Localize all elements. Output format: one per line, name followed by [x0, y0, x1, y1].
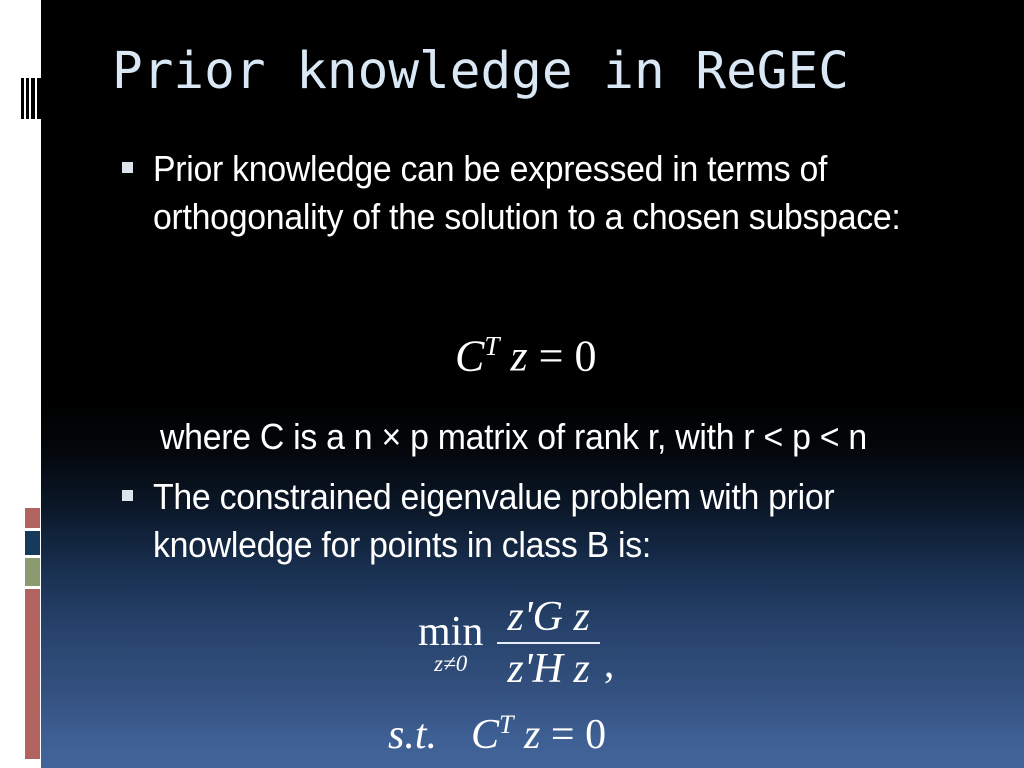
eq3-base: C	[471, 712, 499, 758]
eq1-relation: =	[539, 332, 564, 381]
eq2-operator-label: min	[418, 610, 483, 654]
bullet-item-1-text: Prior knowledge can be expressed in term…	[153, 145, 904, 241]
eq2-den-matrix: H	[533, 646, 563, 692]
equation-minimization: min z≠0 z'G z z'H z ,	[418, 592, 614, 694]
equation-subject-to: s.t.CT z = 0	[388, 700, 606, 760]
bullet-item-2: The constrained eigenvalue problem with …	[122, 473, 972, 569]
eq3-variable: z	[524, 712, 540, 758]
note-line-matrix-rank: where C is a n × p matrix of rank r, wit…	[160, 414, 950, 460]
eq1-rhs: 0	[574, 332, 596, 381]
bullet-item-2-text: The constrained eigenvalue problem with …	[153, 473, 923, 569]
square-bullet-icon	[122, 162, 133, 173]
eq2-fraction: z'G z z'H z	[497, 592, 600, 694]
eq3-relation: =	[551, 712, 575, 758]
eq2-den-var2: z	[574, 646, 590, 692]
eq2-min-operator: min z≠0	[418, 610, 483, 676]
eq2-den-var1: z'	[507, 646, 532, 692]
equation-orthogonality: CT z = 0	[455, 320, 596, 383]
eq2-denominator: z'H z	[497, 644, 600, 694]
eq3-prefix: s.t.	[388, 712, 437, 758]
eq2-trailing-comma: ,	[604, 640, 615, 688]
presentation-slide: Prior knowledge in ReGEC Prior knowledge…	[0, 0, 1024, 768]
eq3-rhs: 0	[585, 712, 606, 758]
eq2-operator-subscript: z≠0	[434, 652, 467, 676]
slide-body: Prior knowledge can be expressed in term…	[0, 0, 1024, 768]
eq2-num-var1: z'	[507, 594, 532, 640]
bullet-item-1: Prior knowledge can be expressed in term…	[122, 145, 952, 241]
eq1-base: C	[455, 332, 484, 381]
eq1-variable: z	[511, 332, 528, 381]
eq2-num-var2: z	[574, 594, 590, 640]
eq2-numerator: z'G z	[497, 592, 600, 642]
square-bullet-icon	[122, 490, 133, 501]
eq2-num-matrix: G	[533, 594, 563, 640]
eq3-superscript: T	[499, 710, 513, 739]
eq1-superscript: T	[484, 331, 499, 361]
